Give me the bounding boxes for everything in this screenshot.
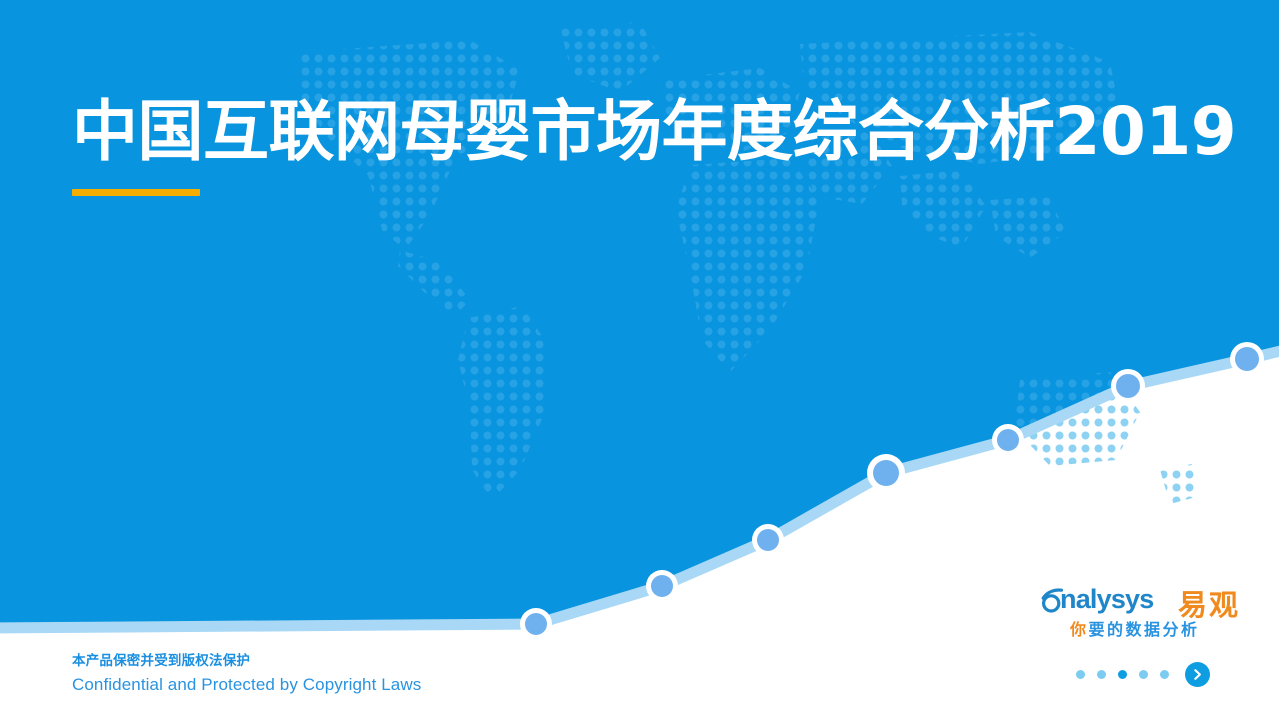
page-title: 中国互联网母婴市场年度综合分析2019 [72,96,1212,167]
brand-tagline: 你要的数据分析 [1070,616,1200,640]
brand-logo-row: nalysys 易观 [1038,586,1210,618]
brand-tagline-first-char: 你 [1070,620,1089,639]
page-dot-5[interactable] [1160,670,1169,679]
pagination[interactable] [1076,661,1210,687]
page-dot-3[interactable] [1118,670,1127,679]
title-underline-rule [72,189,200,196]
slide-cover: 中国互联网母婴市场年度综合分析2019 本产品保密并受到版权法保护 Confid… [0,0,1279,719]
confidential-text-en: Confidential and Protected by Copyright … [72,672,421,698]
page-dot-4[interactable] [1139,670,1148,679]
brand-tagline-rest: 要的数据分析 [1089,620,1200,639]
title-block: 中国互联网母婴市场年度综合分析2019 [72,96,1212,196]
confidentiality-notice: 本产品保密并受到版权法保护 Confidential and Protected… [72,650,421,698]
page-dot-1[interactable] [1076,670,1085,679]
chevron-right-icon [1191,668,1204,681]
next-slide-button[interactable] [1185,662,1210,687]
page-dot-2[interactable] [1097,670,1106,679]
brand-logo: nalysys 易观 你要的数据分析 [1038,586,1210,642]
confidential-text-cn: 本产品保密并受到版权法保护 [72,650,421,672]
brand-wordmark: nalysys [1060,584,1153,615]
